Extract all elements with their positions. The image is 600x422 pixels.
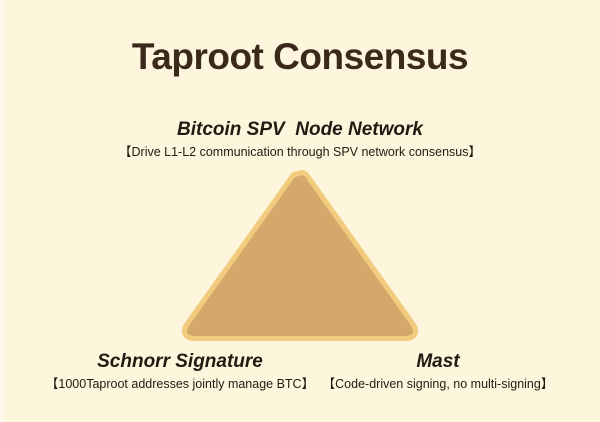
page-title: Taproot Consensus: [0, 36, 600, 78]
node-mast: Mast 【Code-driven signing, no multi-sign…: [318, 352, 558, 393]
triangle-path: [184, 173, 415, 339]
node-bottom-right-heading: Mast: [318, 352, 558, 373]
node-bitcoin-spv-node-network: Bitcoin SPV Node Network 【Drive L1-L2 co…: [0, 120, 600, 161]
taproot-triangle: [170, 164, 430, 350]
node-bottom-left-heading: Schnorr Signature: [30, 352, 330, 373]
node-bottom-left-caption: 【1000Taproot addresses jointly manage BT…: [30, 377, 330, 393]
node-top-caption: 【Drive L1-L2 communication through SPV n…: [0, 145, 600, 161]
node-top-heading: Bitcoin SPV Node Network: [0, 120, 600, 141]
diagram-canvas: Taproot Consensus Bitcoin SPV Node Netwo…: [0, 0, 600, 422]
triangle-shape: [170, 164, 430, 350]
node-schnorr-signature: Schnorr Signature 【1000Taproot addresses…: [30, 352, 330, 393]
node-bottom-right-caption: 【Code-driven signing, no multi-signing】: [318, 377, 558, 393]
